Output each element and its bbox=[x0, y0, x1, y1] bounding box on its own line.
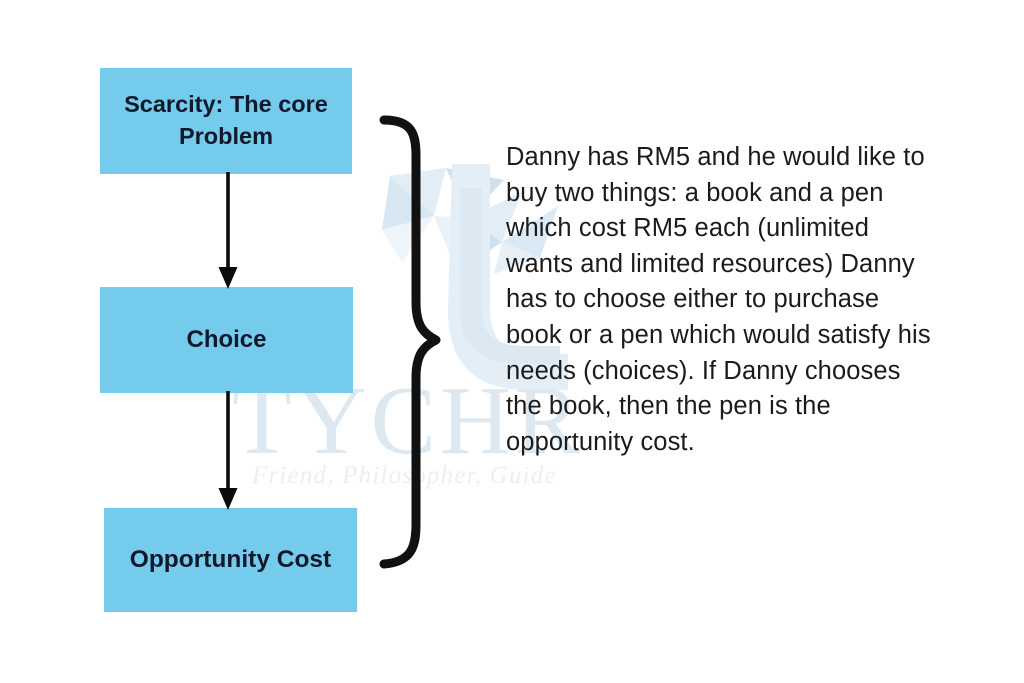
watermark-tagline: Friend, Philosopher, Guide bbox=[252, 463, 722, 488]
flow-node-scarcity[interactable]: Scarcity: The core Problem bbox=[100, 68, 352, 174]
arrow-down-icon-scarcity-to-choice bbox=[210, 172, 246, 290]
flow-node-scarcity-label: Scarcity: The core Problem bbox=[114, 89, 338, 152]
example-paragraph: Danny has RM5 and he would like to buy t… bbox=[506, 140, 938, 460]
flow-node-choice[interactable]: Choice bbox=[100, 287, 353, 393]
flow-node-opportunity-cost-label: Opportunity Cost bbox=[130, 543, 331, 576]
flow-node-opportunity-cost[interactable]: Opportunity Cost bbox=[104, 508, 357, 612]
diagram-canvas: TYCHR Friend, Philosopher, Guide Scarcit… bbox=[0, 0, 1024, 683]
flow-node-choice-label: Choice bbox=[186, 324, 266, 356]
arrow-down-icon-choice-to-opportunity-cost bbox=[210, 391, 246, 511]
curly-brace-icon bbox=[372, 112, 482, 572]
